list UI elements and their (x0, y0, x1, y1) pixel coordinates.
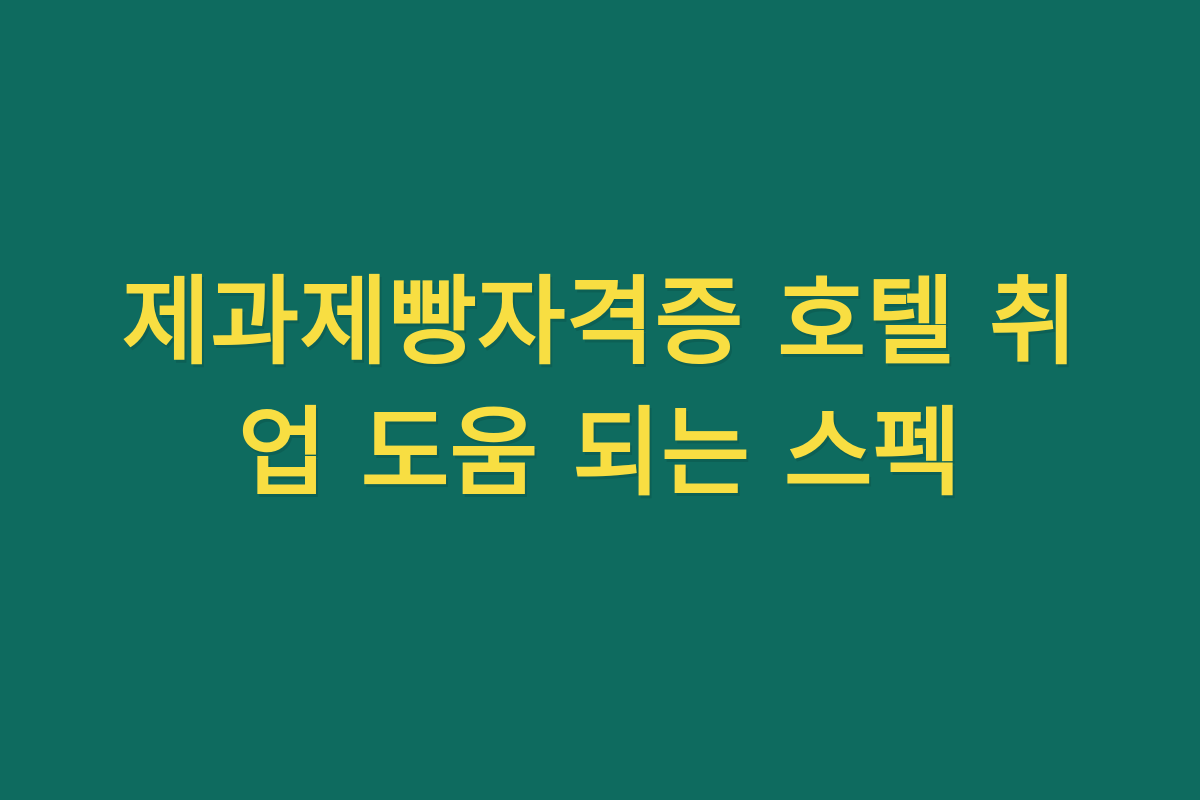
headline-line-2: 업 도움 되는 스펙 (70, 388, 1130, 519)
headline-line-1: 제과제빵자격증 호텔 취 (70, 257, 1130, 388)
banner-canvas: 제과제빵자격증 호텔 취 업 도움 되는 스펙 (0, 0, 1200, 800)
headline-text: 제과제빵자격증 호텔 취 업 도움 되는 스펙 (70, 257, 1130, 518)
